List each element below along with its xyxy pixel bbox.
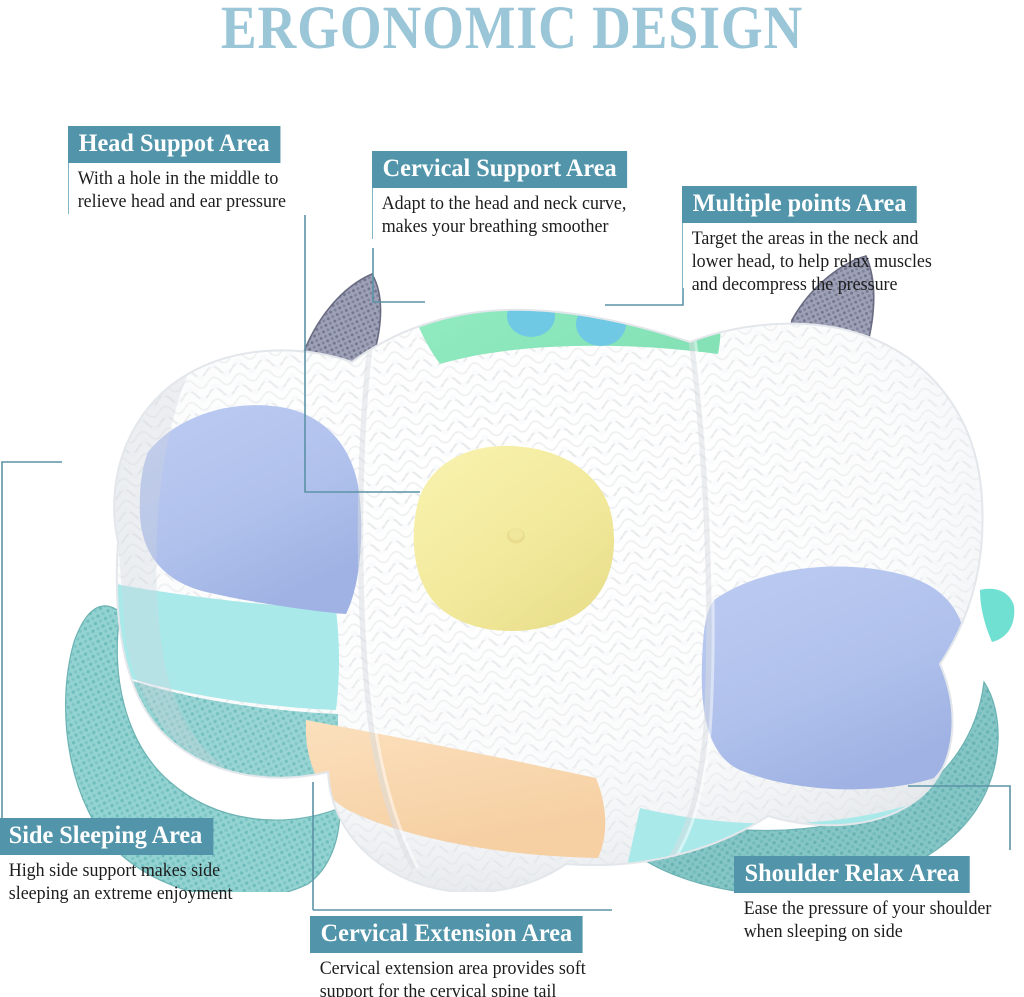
callout-side-sleeping[interactable]: Side Sleeping Area High side support mak… xyxy=(0,818,240,906)
callout-side-sleeping-description: High side support makes side sleeping an… xyxy=(0,855,232,907)
head-support-zone xyxy=(414,446,614,631)
ergonomic-design-infographic: ERGONOMIC DESIGN xyxy=(0,0,1024,997)
callout-cervical-support[interactable]: Cervical Support Area Adapt to the head … xyxy=(372,151,635,239)
callout-cervical-extension-description: Cervical extension area provides soft su… xyxy=(310,953,586,997)
callout-cervical-support-description: Adapt to the head and neck curve, makes … xyxy=(372,188,627,240)
mint-side-tab xyxy=(980,589,1014,642)
side-sleeping-zone-right xyxy=(702,566,968,789)
callout-head-support[interactable]: Head Suppot Area With a hole in the midd… xyxy=(68,126,293,214)
callout-multiple-points-label: Multiple points Area xyxy=(682,186,917,223)
callout-shoulder-relax[interactable]: Shoulder Relax Area Ease the pressure of… xyxy=(734,856,999,944)
callout-head-support-label: Head Suppot Area xyxy=(68,126,280,163)
callout-shoulder-relax-description: Ease the pressure of your shoulder when … xyxy=(734,893,991,945)
page-title: ERGONOMIC DESIGN xyxy=(61,0,962,62)
callout-head-support-description: With a hole in the middle to relieve hea… xyxy=(68,163,286,215)
pillow-product-photo xyxy=(0,212,1024,892)
callout-cervical-support-label: Cervical Support Area xyxy=(372,151,627,188)
callout-shoulder-relax-label: Shoulder Relax Area xyxy=(734,856,970,893)
callout-cervical-extension-label: Cervical Extension Area xyxy=(310,916,583,953)
callout-cervical-extension[interactable]: Cervical Extension Area Cervical extensi… xyxy=(310,916,594,997)
callout-side-sleeping-label: Side Sleeping Area xyxy=(0,818,213,855)
callout-multiple-points-description: Target the areas in the neck and lower h… xyxy=(682,223,932,298)
callout-multiple-points[interactable]: Multiple points Area Target the areas in… xyxy=(682,186,940,297)
